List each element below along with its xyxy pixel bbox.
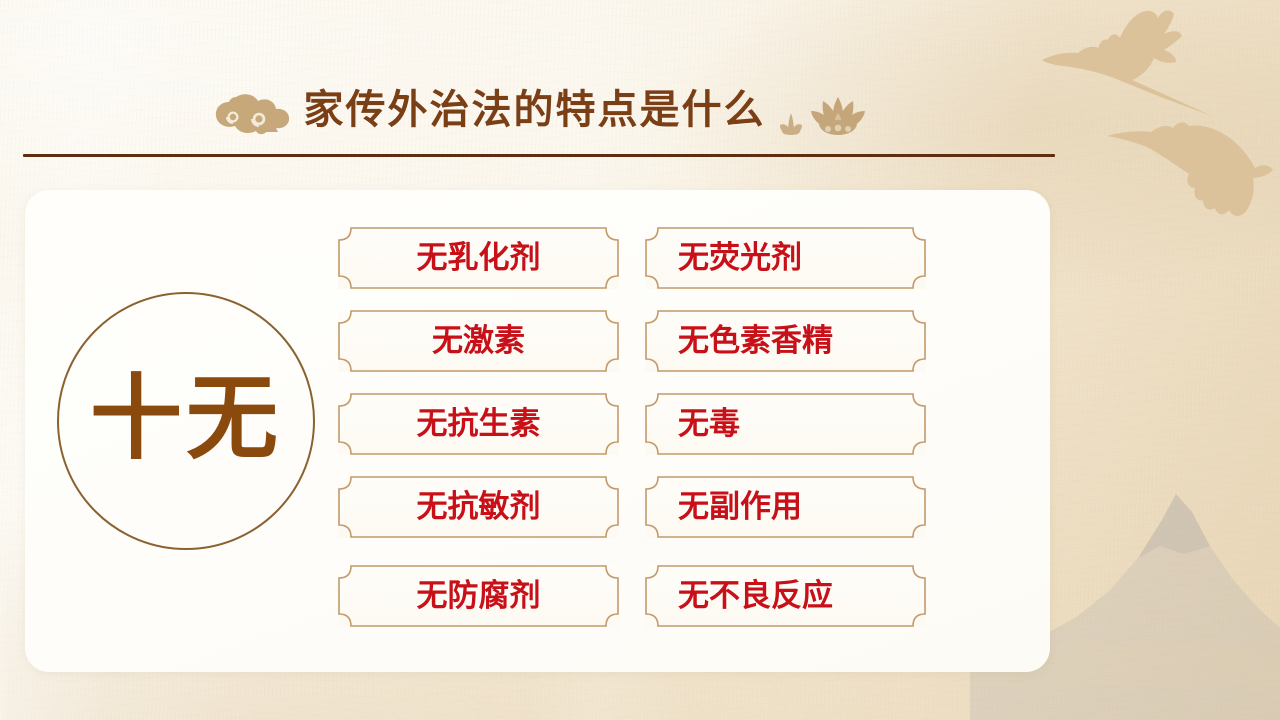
crane-icon [1105,112,1280,220]
tag-row: 无抗生素 无毒 [338,393,926,455]
tag-label: 无荧光剂 [645,243,802,274]
title-row: 家传外治法的特点是什么 [0,78,1080,142]
lotus-flower-icon [809,95,867,135]
tag-label: 无抗生素 [417,409,541,440]
badge-circle: 十无 [57,292,315,550]
cloud-ornament-icon [214,91,296,135]
lotus-leaf-icon [778,111,804,135]
tag-item[interactable]: 无防腐剂 [338,565,619,627]
slide-canvas: 家传外治法的特点是什么 [0,0,1280,720]
tag-item[interactable]: 无不良反应 [645,565,926,627]
tag-label: 无乳化剂 [417,243,541,274]
tag-label: 无防腐剂 [417,581,541,612]
tag-item[interactable]: 无毒 [645,393,926,455]
tag-item[interactable]: 无抗生素 [338,393,619,455]
content-panel: 十无 无乳化剂 无荧光剂 [25,190,1050,672]
tag-row: 无防腐剂 无不良反应 [338,565,926,627]
tag-label: 无抗敏剂 [417,492,541,523]
tag-item[interactable]: 无副作用 [645,476,926,538]
tag-label: 无不良反应 [645,581,833,612]
tag-item[interactable]: 无乳化剂 [338,227,619,289]
tag-grid: 无乳化剂 无荧光剂 无激素 [338,227,926,627]
tag-label: 无毒 [645,409,740,440]
tag-item[interactable]: 无色素香精 [645,310,926,372]
page-title: 家传外治法的特点是什么 [304,90,766,130]
tag-label: 无激素 [432,326,525,357]
badge-label: 十无 [90,373,282,465]
tag-label: 无色素香精 [645,326,833,357]
tag-row: 无乳化剂 无荧光剂 [338,227,926,289]
tag-row: 无激素 无色素香精 [338,310,926,372]
tag-item[interactable]: 无抗敏剂 [338,476,619,538]
tag-item[interactable]: 无激素 [338,310,619,372]
tag-row: 无抗敏剂 无副作用 [338,476,926,538]
title-divider [23,154,1055,157]
tag-label: 无副作用 [645,492,802,523]
tag-item[interactable]: 无荧光剂 [645,227,926,289]
lotus-ornament [778,95,867,135]
